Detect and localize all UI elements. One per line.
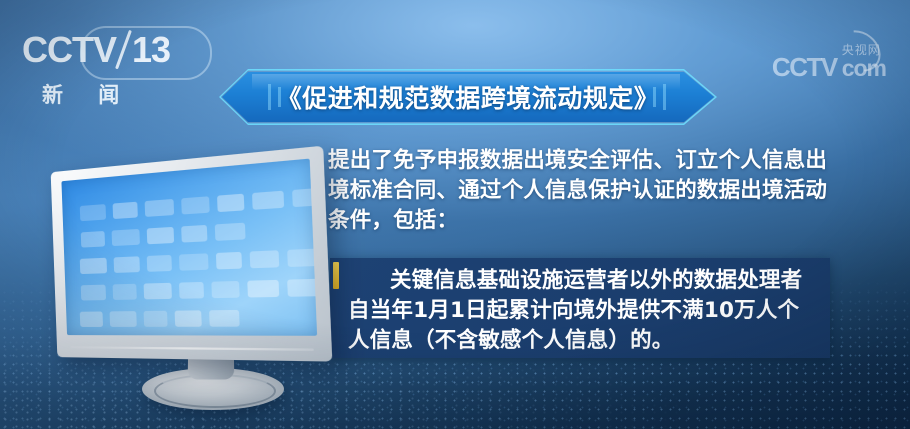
quote-text: 关键信息基础设施运营者以外的数据处理者自当年1月1日起累计向境外提供不满10万人… (348, 266, 818, 356)
screen-block (181, 225, 207, 243)
monitor-bezel-highlight (70, 346, 314, 351)
screen-block (80, 311, 103, 327)
logo-ring-decoration (80, 26, 212, 80)
screen-block (217, 194, 244, 212)
logo-subtitle: 新 闻 (22, 79, 202, 109)
page-title: 《促进和规范数据跨境流动规定》 (222, 72, 714, 122)
screen-block (81, 285, 106, 301)
title-banner: 《促进和规范数据跨境流动规定》 (222, 72, 714, 122)
logo-slash-icon (116, 30, 132, 70)
screen-block (252, 191, 284, 210)
screen-block (292, 188, 317, 207)
highlight-quote-box: 关键信息基础设施运营者以外的数据处理者自当年1月1日起累计向境外提供不满10万人… (330, 258, 830, 358)
screen-block (216, 252, 242, 270)
screen-block (81, 231, 105, 248)
screen-block (80, 258, 107, 274)
screen-block (145, 199, 175, 217)
screen-block (209, 310, 240, 327)
screen-block-row (80, 310, 248, 327)
cctv13-logo: CCTV 13 新 闻 (22, 30, 202, 108)
screen-block-row (81, 279, 317, 301)
screen-block (179, 253, 209, 270)
screen-block (113, 284, 137, 300)
screen-block (247, 280, 279, 298)
screen-block (144, 283, 172, 300)
screen-block (144, 311, 168, 327)
screen-block (110, 311, 137, 327)
screen-block (250, 250, 280, 268)
screen-block (147, 255, 172, 272)
screen-block (147, 227, 174, 244)
screen-block-row (80, 246, 317, 274)
monitor-body (51, 146, 333, 362)
screen-block (113, 202, 138, 219)
screen-block (114, 256, 140, 273)
screen-block-row (80, 184, 317, 221)
screen-block (175, 310, 202, 326)
screen-block (215, 223, 246, 241)
screen-block (112, 229, 140, 246)
screen-block (181, 196, 210, 214)
screen-block (287, 279, 317, 297)
watermark-brand: CCTV (772, 54, 837, 80)
monitor-screen (61, 159, 317, 336)
broadcast-graphic-stage: CCTV 13 新 闻 CCTV 央视网 com 《促进和规范数据跨境流动规定》… (0, 0, 910, 429)
cctv-com-watermark: CCTV 央视网 com (772, 38, 886, 80)
monitor-illustration (46, 172, 316, 407)
screen-block-row (81, 222, 254, 247)
screen-block (287, 248, 317, 267)
body-paragraph: 提出了免予申报数据出境安全评估、订立个人信息出境标准合同、通过个人信息保护认证的… (328, 146, 840, 236)
screen-block (179, 282, 204, 299)
screen-block (211, 281, 239, 298)
screen-block (80, 204, 106, 221)
quote-accent-bar (333, 262, 339, 289)
